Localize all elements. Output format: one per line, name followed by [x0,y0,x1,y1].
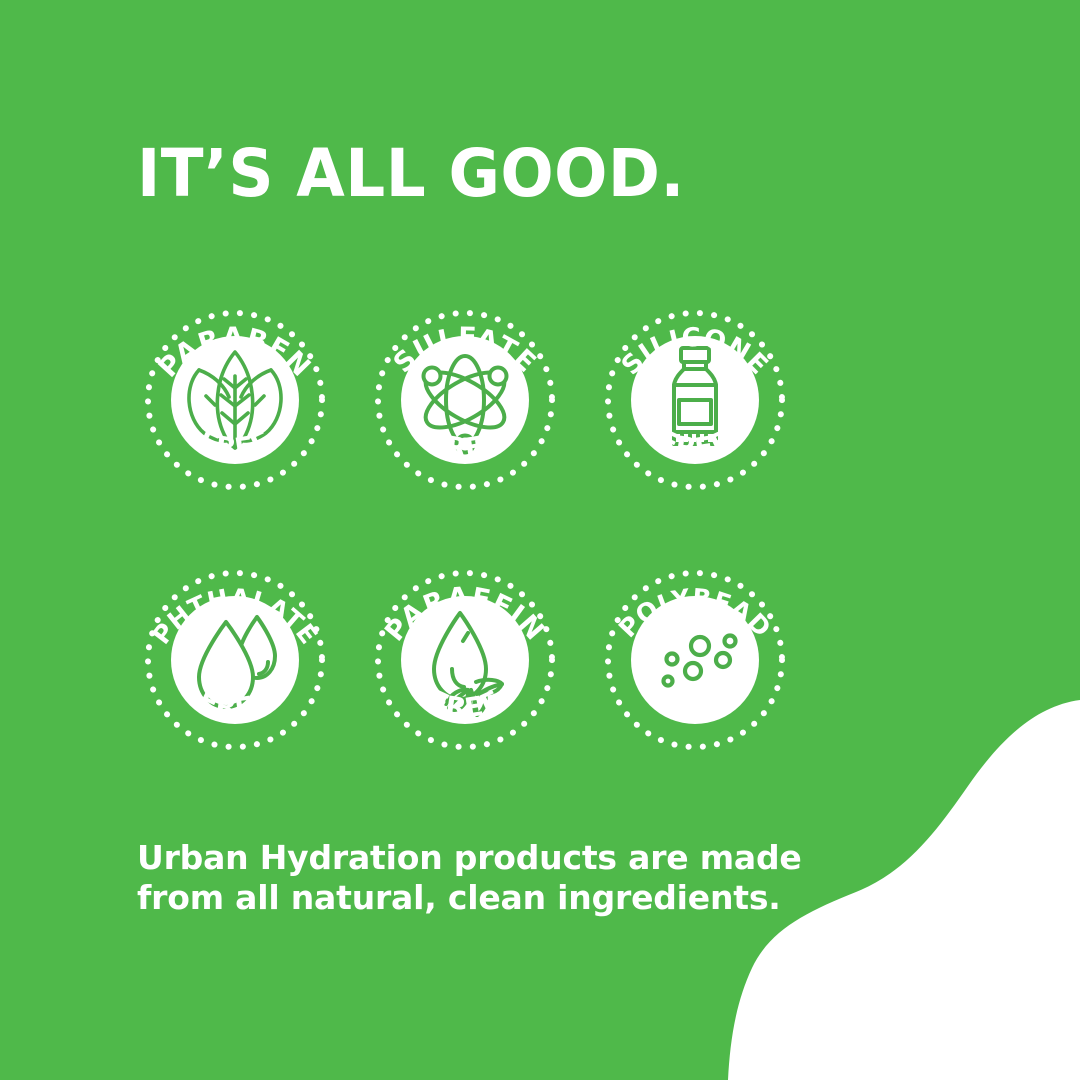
badge-sulfate-free[interactable]: SULFATE FREE [350,278,580,518]
badge-paraffin-free[interactable]: PARAFFIN FREE [350,538,580,778]
page-title: IT’S ALL GOOD. [137,141,685,207]
poster-canvas: IT’S ALL GOOD. [0,0,1080,1080]
footer-copy-line-1: Urban Hydration products are made [137,838,797,878]
badge-grid: PARABEN FREE [120,278,820,798]
footer-copy: Urban Hydration products are made from a… [137,838,797,919]
badge-paraben-free[interactable]: PARABEN FREE [120,278,350,518]
badge-silicone-free[interactable]: SILICONE FREE [580,278,810,518]
badge-polybead-free[interactable]: POLYBEAD FREE [580,538,810,778]
badge-phthalate-free[interactable]: PHTHALATE FREE [120,538,350,778]
footer-copy-line-2: from all natural, clean ingredients. [137,878,797,918]
